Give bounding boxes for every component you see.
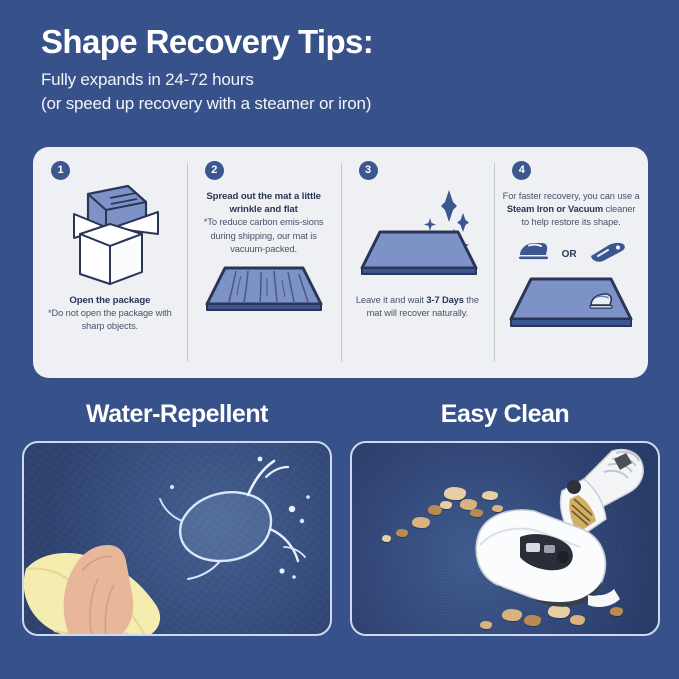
- step-3: 3 Leave it and wait 3-7 Days t: [341, 147, 495, 378]
- steam-iron-icon: [516, 241, 550, 268]
- page-title: Shape Recovery Tips:: [41, 22, 641, 62]
- infographic-page: Shape Recovery Tips: Fully expands in 24…: [0, 0, 679, 679]
- flat-wrinkled-mat-icon: [203, 262, 325, 318]
- step-4-body-prefix: For faster recovery, you can use a: [503, 191, 640, 201]
- sparkling-mat-icon: [352, 182, 482, 282]
- or-label: OR: [562, 249, 577, 260]
- step-2-body-text: *To reduce carbon emis-sions during ship…: [204, 217, 324, 253]
- header-subtitle: Fully expands in 24-72 hours (or speed u…: [41, 68, 641, 116]
- step-4: 4 For faster recovery, you can use a Ste…: [494, 147, 648, 378]
- step-3-caption: Leave it and wait 3-7 Days the mat will …: [349, 294, 487, 320]
- step-1-caption: Open the package *Do not open the packag…: [41, 294, 179, 334]
- step-3-body: Leave it and wait 3-7 Days the mat will …: [349, 180, 487, 368]
- step-4-caption: For faster recovery, you can use a Steam…: [502, 190, 640, 230]
- hand-graphic: [48, 509, 168, 636]
- vacuum-cleaner-head-graphic: [462, 445, 660, 636]
- step-4-body: For faster recovery, you can use a Steam…: [502, 180, 640, 368]
- step-2: 2 Spread out the mat a little wrinkle an…: [187, 147, 341, 378]
- step-2-heading: Spread out the mat a little wrinkle and …: [195, 190, 333, 216]
- feature-easy-clean: Easy Clean: [350, 400, 660, 636]
- header: Shape Recovery Tips: Fully expands in 24…: [41, 22, 641, 116]
- crumb: [382, 535, 391, 542]
- vacuum-cleaning-crumbs-on-blue-mat-photo: [350, 441, 660, 636]
- step-3-badge: 3: [359, 161, 378, 180]
- step-1-heading: Open the package: [41, 294, 179, 307]
- step-1-body: Open the package *Do not open the packag…: [41, 180, 179, 368]
- step-1: 1: [33, 147, 187, 378]
- step-1-body-text: *Do not open the package with sharp obje…: [48, 308, 172, 331]
- feature-title-easy-clean: Easy Clean: [350, 400, 660, 429]
- step-2-badge: 2: [205, 161, 224, 180]
- feature-water-repellent: Water-Repellent: [22, 400, 332, 636]
- hand-wiping-water-splash-on-blue-mat-photo: [22, 441, 332, 636]
- open-box-with-compressed-mat-icon: [50, 176, 170, 288]
- vacuum-nozzle-icon: [589, 240, 627, 269]
- subtitle-line-2: (or speed up recovery with a steamer or …: [41, 92, 641, 116]
- step-2-body: Spread out the mat a little wrinkle and …: [195, 180, 333, 368]
- step-4-badge: 4: [512, 161, 531, 180]
- steps-card: 1: [33, 147, 648, 378]
- feature-title-water-repellent: Water-Repellent: [22, 400, 332, 429]
- crumb: [412, 517, 430, 528]
- mat-with-iron-icon: [505, 275, 637, 333]
- step-4-tools: OR: [516, 240, 627, 269]
- step-2-caption: Spread out the mat a little wrinkle and …: [195, 190, 333, 256]
- subtitle-line-1: Fully expands in 24-72 hours: [41, 68, 641, 92]
- step-3-body-prefix: Leave it and wait: [356, 295, 427, 305]
- step-3-body-strong: 3-7 Days: [426, 295, 463, 305]
- crumb: [396, 529, 408, 537]
- step-4-body-strong: Steam Iron or Vacuum: [507, 204, 603, 214]
- crumb: [440, 501, 452, 509]
